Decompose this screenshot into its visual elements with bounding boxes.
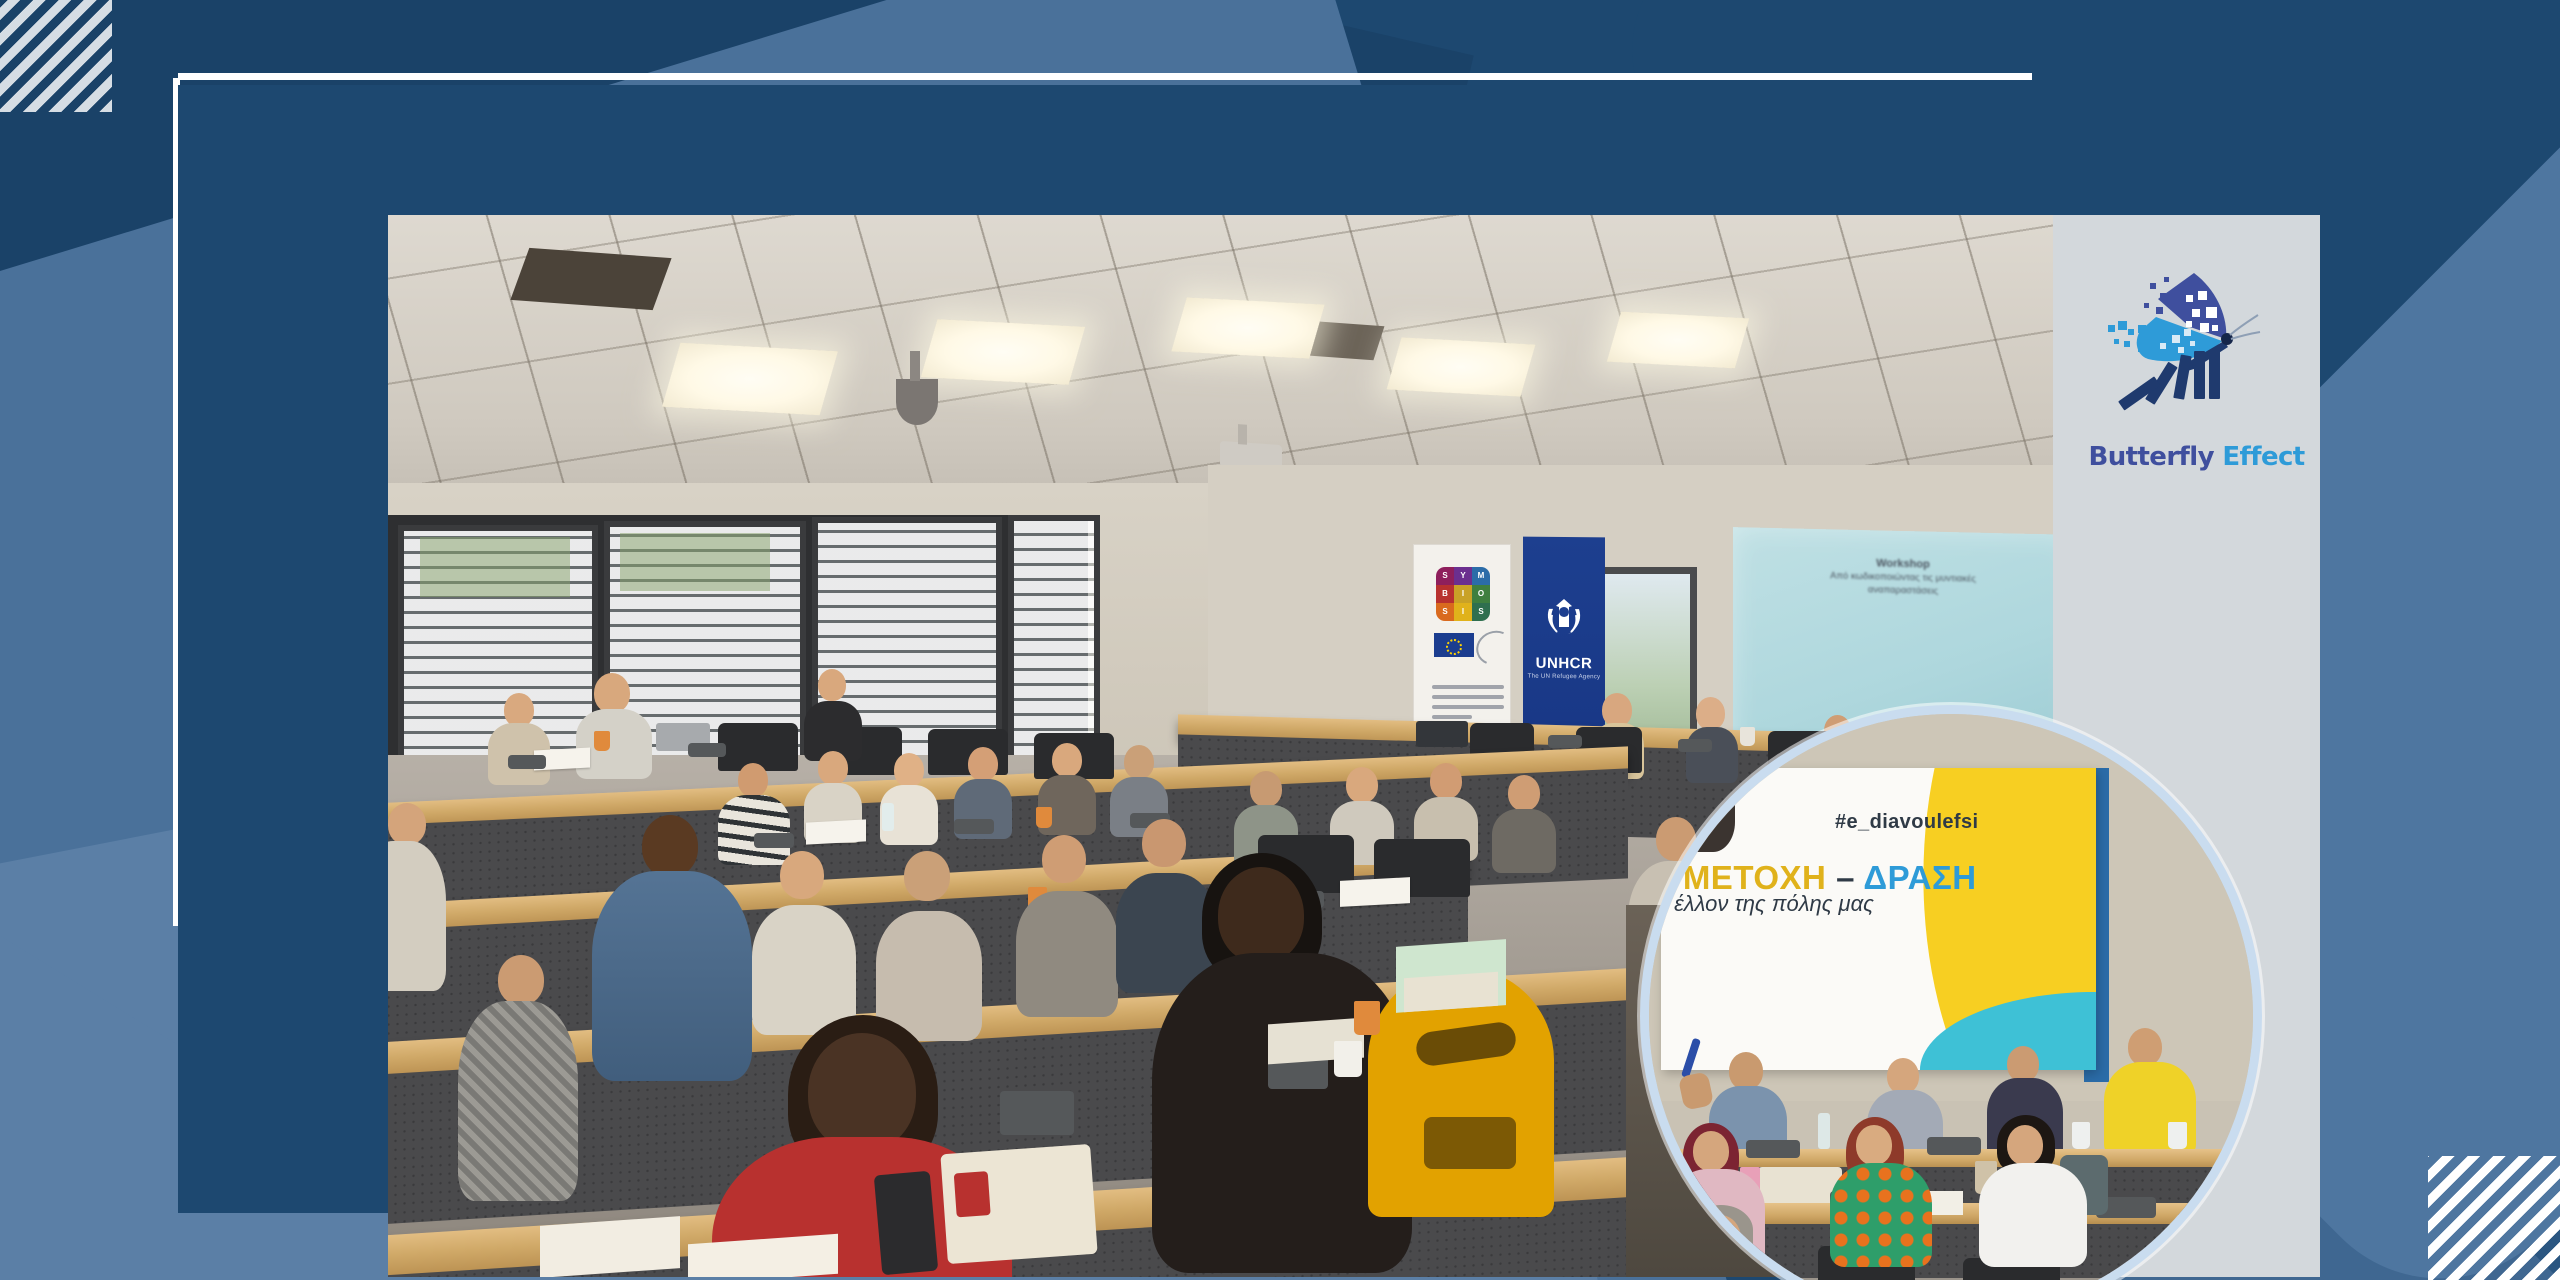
head [504, 693, 534, 727]
chair-text [1424, 1117, 1516, 1169]
head [2007, 1125, 2043, 1165]
head [1699, 1215, 1741, 1261]
head [1729, 1052, 1763, 1090]
microphone-base [1927, 1137, 1981, 1155]
logo-wordmark: Butterfly Effect [2089, 442, 2285, 472]
cup [1354, 1001, 1380, 1035]
sym-letter: I [1454, 603, 1472, 621]
stripe-square-top-left-icon [0, 0, 112, 112]
tote-logo-icon [954, 1171, 991, 1217]
head [1042, 835, 1086, 883]
cup [594, 731, 610, 751]
paper-near [540, 1216, 680, 1277]
eu-flag-icon [1434, 633, 1474, 657]
torso-checked [458, 1001, 578, 1201]
logo-word-butterfly: Butterfly [2089, 442, 2214, 472]
cup [1334, 1041, 1362, 1077]
microphone-base [508, 755, 546, 769]
head [388, 803, 426, 845]
inset-subline: έλλον της πόλης μας [1674, 891, 1874, 917]
banner-text-lines [1432, 685, 1504, 725]
unhcr-subtitle: The UN Refugee Agency [1523, 673, 1605, 681]
glass [2168, 1122, 2186, 1149]
sym-letter: S [1472, 603, 1490, 621]
head [594, 673, 630, 713]
unhcr-title: UNHCR [1523, 655, 1605, 673]
head [1887, 1058, 1919, 1094]
unhcr-emblem-icon [1537, 593, 1591, 642]
butterfly-pixel-icon [2094, 255, 2280, 431]
symbiosis-logo-tile-icon: S Y M B I O S I S [1436, 567, 1490, 621]
sym-letter: B [1436, 585, 1454, 603]
torso [1492, 809, 1556, 873]
head [1346, 767, 1378, 803]
headline-blue: ΔΡΑΣΗ [1863, 859, 1976, 896]
torso [576, 709, 652, 779]
sym-letter: Y [1454, 567, 1472, 585]
head [498, 955, 544, 1005]
head [1218, 867, 1304, 963]
head [904, 851, 950, 901]
butterfly-effect-logo: Butterfly Effect [2089, 255, 2285, 472]
head [1124, 745, 1154, 779]
head [2128, 1028, 2162, 1066]
torso-striped [718, 795, 790, 865]
head [738, 763, 768, 797]
torso-denim [592, 871, 752, 1081]
glass [2072, 1122, 2090, 1149]
microphone-base [954, 819, 994, 834]
microphone-unit [1000, 1091, 1074, 1135]
sym-letter: S [1436, 567, 1454, 585]
paper [1340, 877, 1410, 907]
head [780, 851, 824, 899]
inset-photo-content: #e_diavoulefsi ΜΕΤΟΧΗ – ΔΡΑΣΗ έλλον της … [1649, 714, 2253, 1280]
sym-letter: M [1472, 567, 1490, 585]
white-rule-top [178, 73, 2032, 80]
head [1693, 1131, 1729, 1171]
stripe-square-bottom-right-icon [2428, 1156, 2560, 1280]
ceiling-light-panel [662, 343, 838, 415]
ceiling-light-panel [1607, 312, 1749, 369]
torso-patterned [1830, 1163, 1932, 1267]
microphone-base [754, 833, 794, 848]
ceiling-light-panel [1387, 337, 1536, 396]
ceiling-vent-icon [510, 248, 671, 310]
projector-screen-text: Workshop Από κωδικοποιώντας τις μυντιακέ… [1733, 553, 2053, 601]
microphone-base [1548, 735, 1582, 748]
logo-word-effect: Effect [2222, 442, 2304, 472]
head [2007, 1046, 2039, 1082]
torso-white [1979, 1163, 2087, 1267]
window-foliage [620, 533, 770, 591]
microphone-base [1746, 1140, 1800, 1158]
hair [1649, 714, 1735, 852]
head [894, 753, 924, 787]
poster-canvas: S Y M B I O S I S [0, 0, 2560, 1280]
head [1250, 771, 1282, 807]
sym-letter: O [1472, 585, 1490, 603]
cup [1036, 807, 1052, 828]
head [1052, 743, 1082, 777]
monitor [1416, 721, 1468, 747]
torso [1016, 891, 1118, 1017]
sym-letter: I [1454, 585, 1472, 603]
torso [388, 841, 446, 991]
ceiling-light-panel [1171, 297, 1324, 358]
head [1430, 763, 1462, 799]
circular-inset-photo: #e_diavoulefsi ΜΕΤΟΧΗ – ΔΡΑΣΗ έλλον της … [1640, 705, 2262, 1280]
microphone-base [688, 743, 726, 757]
tote-bag [940, 1144, 1097, 1264]
window-foliage [420, 537, 570, 597]
paper [806, 819, 866, 844]
dome-camera-icon [896, 379, 938, 425]
head [1856, 1125, 1892, 1165]
chair-logo-icon [1414, 1020, 1518, 1068]
head [808, 1033, 916, 1151]
ceiling-light-panel [921, 319, 1085, 385]
head [1508, 775, 1540, 811]
head [818, 751, 848, 785]
head [968, 747, 998, 781]
sym-letter: S [1436, 603, 1454, 621]
inset-hashtag: #e_diavoulefsi [1835, 811, 1978, 834]
water-bottle [882, 803, 894, 831]
window-blind [1008, 515, 1100, 767]
head [818, 669, 846, 701]
head [1602, 693, 1632, 727]
torso [752, 905, 856, 1035]
head [1142, 819, 1186, 867]
head [642, 815, 698, 877]
water-bottle [1818, 1113, 1830, 1149]
phone [874, 1171, 939, 1276]
papers [1404, 972, 1498, 1013]
